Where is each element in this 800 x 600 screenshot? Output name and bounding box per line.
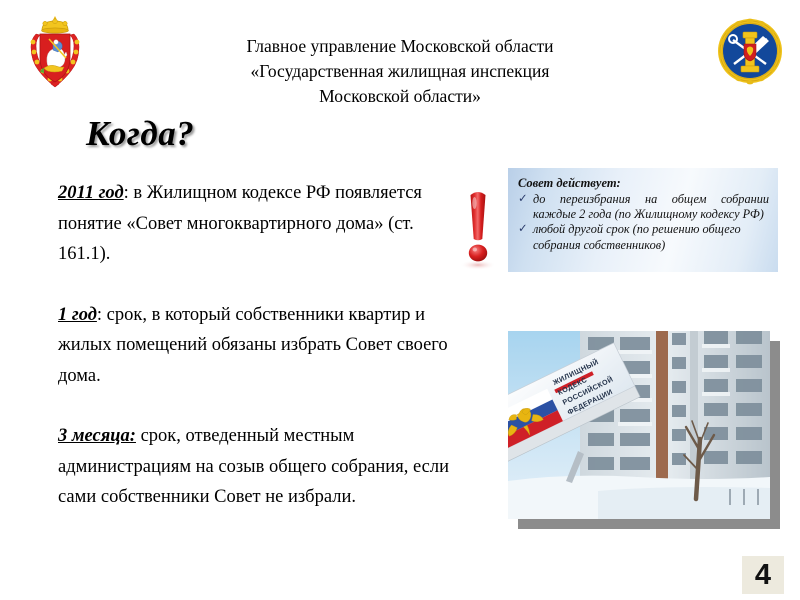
- page-title: Когда?: [86, 114, 194, 154]
- red-exclamation-mark: [458, 186, 498, 270]
- header-title-line2: «Государственная жилищная инспекция: [150, 59, 650, 84]
- page-number: 4: [742, 556, 784, 594]
- moscow-oblast-coat-of-arms: [22, 14, 88, 92]
- header-title-line3: Московской области»: [150, 84, 650, 109]
- callout-title: Совет действует:: [518, 176, 769, 191]
- callout-list-item: ✓ любой другой срок (по решению общего с…: [518, 222, 769, 252]
- callout-item-text: до переизбрания на общем собрании каждые…: [533, 192, 769, 222]
- paragraph-1-year: 1 год: срок, в который собственники квар…: [58, 300, 458, 392]
- header-title: Главное управление Московской области «Г…: [150, 34, 650, 109]
- paragraph-lead: 3 месяца:: [58, 426, 136, 446]
- housing-code-book-and-apartment-building: ЖИЛИЩНЫЙ КОДЕКС РОССИЙСКОЙ ФЕДЕРАЦИИ: [508, 331, 770, 519]
- header-title-line1: Главное управление Московской области: [150, 34, 650, 59]
- callout-item-text: любой другой срок (по решению общего соб…: [533, 222, 769, 252]
- paragraph-lead: 2011 год: [58, 183, 124, 203]
- callout-list-item: ✓ до переизбрания на общем собрании кажд…: [518, 192, 769, 222]
- paragraph-rest: : срок, в который собственники квартир и…: [58, 305, 448, 386]
- paragraph-2011: 2011 год: в Жилищном кодексе РФ появляет…: [58, 178, 458, 270]
- body-text: 2011 год: в Жилищном кодексе РФ появляет…: [58, 178, 458, 513]
- check-icon: ✓: [518, 192, 533, 207]
- callout-box: Совет действует: ✓ до переизбрания на об…: [508, 168, 778, 272]
- paragraph-lead: 1 год: [58, 305, 97, 325]
- paragraph-3-months: 3 месяца: срок, отведенный местным админ…: [58, 421, 458, 513]
- housing-inspection-emblem: [716, 14, 784, 88]
- check-icon: ✓: [518, 222, 533, 237]
